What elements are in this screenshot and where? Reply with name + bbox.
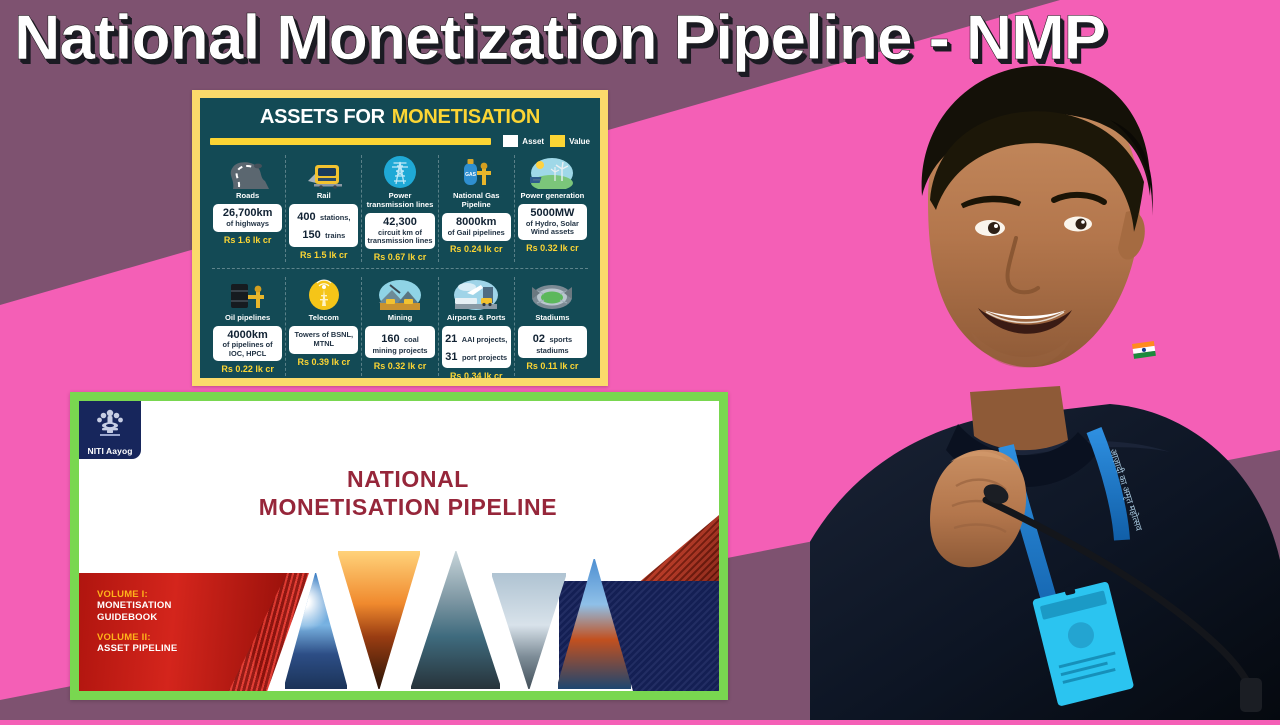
- asset-value: Rs 1.6 lk cr: [224, 235, 272, 245]
- asset-detail: of highways: [215, 220, 280, 229]
- asset-card: 02 sports stadiums: [518, 326, 587, 359]
- legend-label-asset: Asset: [522, 137, 544, 146]
- asset-value: Rs 0.39 lk cr: [298, 357, 351, 367]
- slide-title-line-1: NATIONAL: [347, 466, 469, 492]
- asset-figure-2: 150: [302, 229, 320, 241]
- infographic-row-1: Roads 26,700km of highways Rs 1.6 lk cr: [210, 155, 590, 262]
- asset-value: Rs 0.24 lk cr: [450, 244, 503, 254]
- pylon-icon: [383, 155, 417, 189]
- asset-name: Telecom: [309, 314, 339, 323]
- asset-figure: 5000MW: [520, 207, 585, 220]
- nmp-cover-slide: NITI Aayog NATIONAL MONETISATION PIPELIN…: [70, 392, 728, 700]
- asset-figure-unit: coal: [404, 335, 419, 344]
- infographic-heading: ASSETS FOR MONETISATION: [210, 106, 590, 129]
- infographic-row-2: Oil pipelines 4000km of pipelines of IOC…: [210, 277, 590, 378]
- asset-detail: mining projects: [367, 347, 432, 356]
- asset-figure: 400: [297, 211, 315, 223]
- volume-1-line-2: GUIDEBOOK: [97, 612, 287, 624]
- asset-figure-unit: AAI projects,: [462, 335, 508, 344]
- airplane-photo: [490, 571, 567, 691]
- asset-figure-unit: stations,: [320, 213, 350, 222]
- volume-1-line-1: MONETISATION: [97, 600, 287, 612]
- asset-figure: 21: [445, 333, 457, 345]
- asset-detail: stadiums: [520, 347, 585, 356]
- asset-figure: 42,300: [367, 216, 432, 229]
- tower-icon: [307, 277, 341, 311]
- asset-detail: circuit km of transmission lines: [367, 229, 432, 246]
- asset-cell-oil-pipelines: Oil pipelines 4000km of pipelines of IOC…: [210, 277, 285, 378]
- asset-cell-roads: Roads 26,700km of highways Rs 1.6 lk cr: [210, 155, 285, 262]
- asset-cell-gas-pipeline: GAS National Gas Pipeline 8000km of Gail…: [438, 155, 514, 262]
- train-photo: [409, 549, 502, 691]
- asset-card: 400 stations, 150 trains: [289, 204, 358, 247]
- legend-item-asset: Asset: [503, 135, 544, 147]
- asset-card: 4000km of pipelines of IOC, HPCL: [213, 326, 282, 362]
- asset-card: 8000km of Gail pipelines: [442, 213, 511, 241]
- asset-cell-power-generation: Power generation 5000MW of Hydro, Solar …: [514, 155, 590, 262]
- asset-figure-unit: sports: [549, 335, 572, 344]
- airport-port-icon: [453, 277, 499, 311]
- train-icon: [302, 155, 346, 189]
- legend-swatch-asset: [503, 135, 518, 147]
- asset-cell-power-transmission: Power transmission lines 42,300 circuit …: [361, 155, 437, 262]
- solar-wind-icon: [530, 155, 574, 189]
- road-icon: [225, 155, 271, 189]
- asset-card: 160 coal mining projects: [365, 326, 434, 359]
- legend-swatch-value: [550, 135, 565, 147]
- asset-value: Rs 1.5 lk cr: [300, 250, 348, 260]
- asset-cell-stadiums: Stadiums 02 sports stadiums Rs 0.11 lk c…: [514, 277, 590, 378]
- asset-name: Rail: [317, 192, 331, 201]
- asset-cell-rail: Rail 400 stations, 150 trains Rs 1.5 lk …: [285, 155, 361, 262]
- asset-figure-2-unit: trains: [325, 231, 345, 240]
- gas-cylinder-icon: GAS: [456, 155, 496, 189]
- infographic-legend: Asset Value: [210, 135, 590, 147]
- port-containers-photo: [556, 557, 633, 691]
- asset-card: 21 AAI projects, 31 port projects: [442, 326, 511, 369]
- asset-name: Airports & Ports: [447, 314, 506, 323]
- legend-item-value: Value: [550, 135, 590, 147]
- asset-figure-2: 31: [445, 351, 457, 363]
- svg-text:GAS: GAS: [465, 172, 477, 178]
- asset-name: Power transmission lines: [365, 192, 434, 210]
- stadium-icon: [530, 277, 574, 311]
- legend-label-value: Value: [569, 137, 590, 146]
- asset-name: Power generation: [521, 192, 585, 201]
- asset-name: Mining: [388, 314, 412, 323]
- asset-detail: Towers of BSNL, MTNL: [291, 331, 356, 348]
- legend-accent-bar: [210, 138, 491, 145]
- slide-title: NATIONAL MONETISATION PIPELINE: [79, 465, 719, 521]
- asset-cell-mining: Mining 160 coal mining projects Rs 0.32 …: [361, 277, 437, 378]
- asset-figure: 160: [381, 333, 399, 345]
- infographic-heading-white: ASSETS FOR: [260, 106, 385, 129]
- asset-name: National Gas Pipeline: [442, 192, 511, 210]
- mining-icon: [378, 277, 422, 311]
- asset-card: 26,700km of highways: [213, 204, 282, 232]
- asset-name: Stadiums: [535, 314, 569, 323]
- asset-value: Rs 0.67 lk cr: [374, 252, 427, 262]
- asset-detail: of Hydro, Solar Wind assets: [520, 220, 585, 237]
- asset-cell-telecom: Telecom Towers of BSNL, MTNL Rs 0.39 lk …: [285, 277, 361, 378]
- niti-aayog-logo: NITI Aayog: [79, 401, 141, 459]
- asset-value: Rs 0.34 lk cr: [450, 371, 503, 378]
- speaker-photo: आज़ादी का अमृत महोत्सव: [810, 0, 1280, 720]
- assets-for-monetisation-infographic: ASSETS FOR MONETISATION Asset Value: [192, 90, 608, 386]
- asset-figure-2-unit: port projects: [462, 353, 507, 362]
- ashoka-emblem-icon: [94, 401, 126, 446]
- construction-photo: [336, 549, 421, 691]
- asset-name: Roads: [236, 192, 259, 201]
- volume-1-head: VOLUME I:: [97, 589, 287, 600]
- asset-card: 42,300 circuit km of transmission lines: [365, 213, 434, 249]
- asset-detail: of Gail pipelines: [444, 229, 509, 238]
- asset-value: Rs 0.22 lk cr: [221, 364, 274, 374]
- slide-title-line-2: MONETISATION PIPELINE: [97, 493, 719, 521]
- page-title: National Monetization Pipeline - NMP: [14, 6, 1280, 72]
- infographic-row-divider: [212, 268, 588, 269]
- asset-card: 5000MW of Hydro, Solar Wind assets: [518, 204, 587, 240]
- oil-drum-icon: [227, 277, 269, 311]
- asset-value: Rs 0.11 lk cr: [526, 361, 578, 371]
- asset-detail: of pipelines of IOC, HPCL: [215, 341, 280, 358]
- asset-card: Towers of BSNL, MTNL: [289, 326, 358, 354]
- asset-value: Rs 0.32 lk cr: [526, 243, 579, 253]
- asset-name: Oil pipelines: [225, 314, 270, 323]
- asset-value: Rs 0.32 lk cr: [374, 361, 427, 371]
- asset-figure: 02: [533, 333, 545, 345]
- asset-cell-airports-ports: Airports & Ports 21 AAI projects, 31 por…: [438, 277, 514, 378]
- niti-aayog-label: NITI Aayog: [87, 446, 132, 456]
- infographic-heading-yellow: MONETISATION: [392, 106, 540, 129]
